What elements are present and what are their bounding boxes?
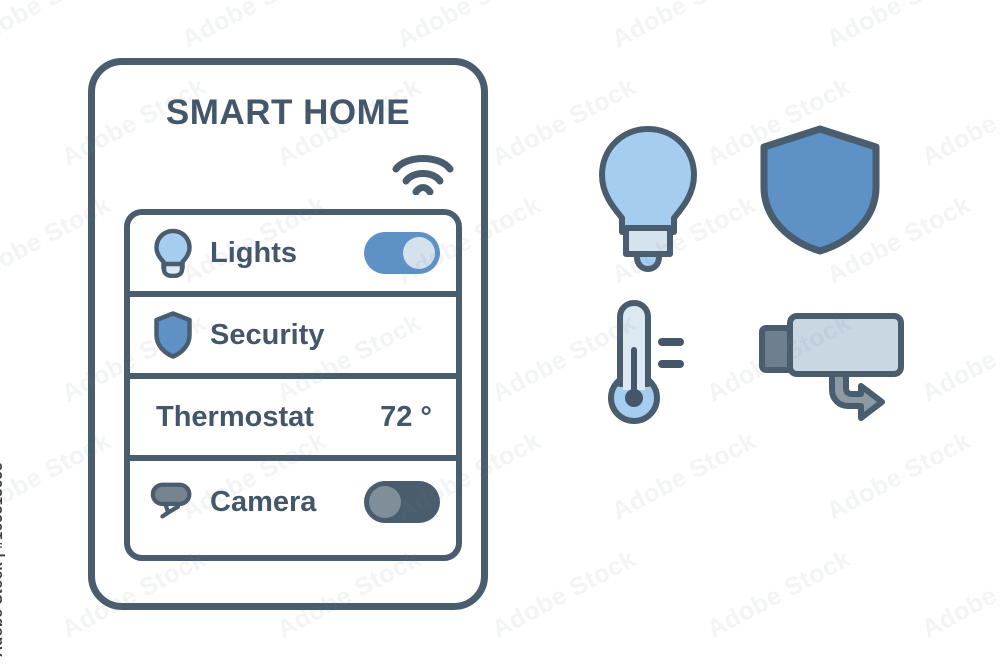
- list-item-label: Security: [210, 319, 324, 352]
- list-item-label: Lights: [210, 237, 297, 270]
- thermometer-icon: [600, 298, 700, 428]
- cctv-camera-icon: [756, 306, 906, 422]
- cctv-camera-icon: [150, 476, 196, 528]
- thermostat-value: 72 °: [380, 401, 432, 434]
- list-item-security[interactable]: Security: [130, 297, 456, 379]
- smart-home-panel: SMART HOME: [88, 58, 488, 610]
- watermark-text: Adobe Stock: [392, 0, 545, 54]
- watermark-text: Adobe Stock: [607, 0, 760, 54]
- watermark-text: Adobe Stock: [607, 427, 760, 527]
- shield-icon: [150, 309, 196, 361]
- lightbulb-icon: [150, 227, 196, 279]
- device-list: Lights Security Thermostat: [124, 209, 462, 561]
- wifi-icon: [392, 151, 454, 195]
- watermark-text: Adobe Stock: [822, 0, 975, 54]
- list-item-lights[interactable]: Lights: [130, 215, 456, 297]
- watermark-text: Adobe Stock: [917, 545, 1000, 645]
- page-title: SMART HOME: [95, 93, 481, 133]
- watermark-text: Adobe Stock: [177, 0, 330, 54]
- watermark-text: Adobe Stock: [702, 545, 855, 645]
- watermark-text: Adobe Stock: [822, 427, 975, 527]
- lights-toggle[interactable]: [364, 232, 440, 274]
- list-item-label: Thermostat: [156, 401, 314, 434]
- lightbulb-icon: [596, 124, 700, 272]
- stock-credit-text: Adobe Stock | #165513655: [0, 462, 6, 657]
- watermark-text: Adobe Stock: [0, 0, 116, 54]
- illustration-canvas: SMART HOME: [0, 0, 1000, 667]
- list-item-thermostat[interactable]: Thermostat 72 °: [130, 379, 456, 461]
- watermark-text: Adobe Stock: [917, 73, 1000, 173]
- shield-icon: [758, 124, 882, 256]
- camera-toggle[interactable]: [364, 481, 440, 523]
- list-item-camera[interactable]: Camera: [130, 461, 456, 543]
- watermark-text: Adobe Stock: [917, 309, 1000, 409]
- toggle-knob: [403, 237, 435, 269]
- list-item-label: Camera: [210, 486, 316, 519]
- toggle-knob: [369, 486, 401, 518]
- watermark-text: Adobe Stock: [487, 545, 640, 645]
